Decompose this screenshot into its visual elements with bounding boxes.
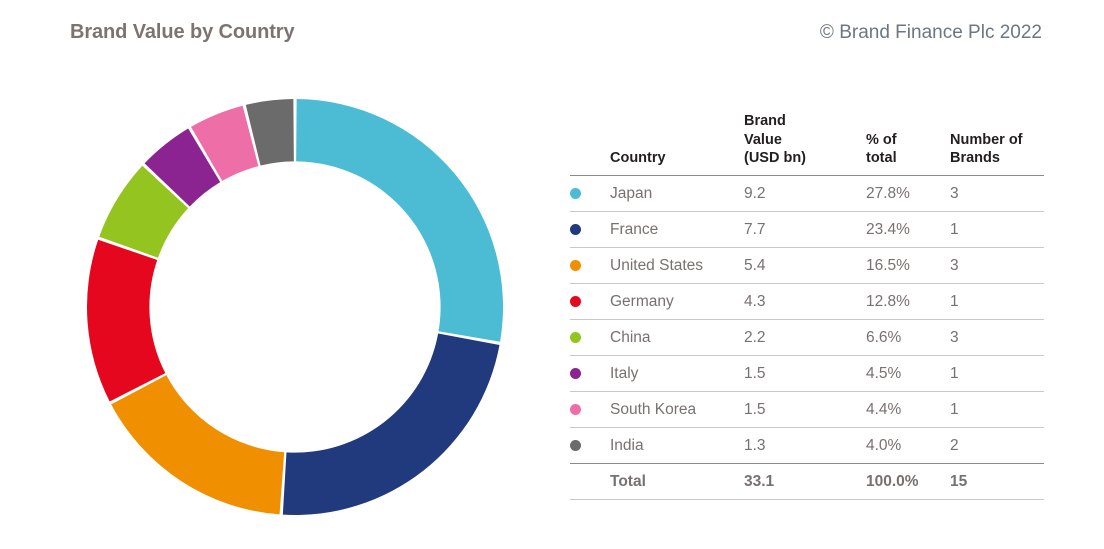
donut-chart <box>87 99 503 515</box>
row-color-swatch-cell <box>570 319 610 355</box>
row-pct-of-total: 4.5% <box>866 355 950 391</box>
row-number-of-brands: 1 <box>950 391 1044 427</box>
row-color-swatch-cell <box>570 391 610 427</box>
row-country: Japan <box>610 175 744 211</box>
row-color-swatch-cell <box>570 355 610 391</box>
row-brand-value: 1.3 <box>744 427 866 463</box>
row-country: India <box>610 427 744 463</box>
header-pct-line1: % of <box>866 132 897 148</box>
header-country: Country <box>610 112 744 175</box>
page-title: Brand Value by Country <box>70 21 295 44</box>
row-brand-value: 4.3 <box>744 283 866 319</box>
table-footer: Total 33.1 100.0% 15 <box>570 463 1044 499</box>
row-number-of-brands: 1 <box>950 283 1044 319</box>
row-country: South Korea <box>610 391 744 427</box>
table-row: United States5.416.5%3 <box>570 247 1044 283</box>
donut-slice-japan <box>296 99 503 342</box>
total-label: Total <box>610 463 744 499</box>
row-country: United States <box>610 247 744 283</box>
legend-dot-icon <box>570 296 581 307</box>
total-brand-value: 33.1 <box>744 463 866 499</box>
row-number-of-brands: 3 <box>950 175 1044 211</box>
row-number-of-brands: 1 <box>950 211 1044 247</box>
header-pct-line2: total <box>866 150 897 166</box>
header-brands-line2: Brands <box>950 150 1000 166</box>
row-color-swatch-cell <box>570 247 610 283</box>
row-number-of-brands: 3 <box>950 319 1044 355</box>
donut-slice-united-states <box>111 375 284 514</box>
table-row: Italy1.54.5%1 <box>570 355 1044 391</box>
table-header: Country Brand Value (USD bn) % of total … <box>570 112 1044 175</box>
table-row: France7.723.4%1 <box>570 211 1044 247</box>
row-pct-of-total: 6.6% <box>866 319 950 355</box>
legend-dot-icon <box>570 188 581 199</box>
copyright-notice: © Brand Finance Plc 2022 <box>820 22 1042 44</box>
table-row: Japan9.227.8%3 <box>570 175 1044 211</box>
total-number-of-brands: 15 <box>950 463 1044 499</box>
row-pct-of-total: 4.4% <box>866 391 950 427</box>
row-brand-value: 1.5 <box>744 391 866 427</box>
row-color-swatch-cell <box>570 427 610 463</box>
table-total-row: Total 33.1 100.0% 15 <box>570 463 1044 499</box>
table-row: South Korea1.54.4%1 <box>570 391 1044 427</box>
row-country: France <box>610 211 744 247</box>
row-number-of-brands: 2 <box>950 427 1044 463</box>
legend-dot-icon <box>570 404 581 415</box>
legend-dot-icon <box>570 224 581 235</box>
donut-slice-france <box>283 334 500 515</box>
row-brand-value: 9.2 <box>744 175 866 211</box>
header-number-of-brands: Number of Brands <box>950 112 1044 175</box>
header-brands-line1: Number of <box>950 132 1023 148</box>
header-brand-value: Brand Value (USD bn) <box>744 112 866 175</box>
donut-slice-germany <box>87 240 165 402</box>
row-country: China <box>610 319 744 355</box>
row-pct-of-total: 4.0% <box>866 427 950 463</box>
row-number-of-brands: 1 <box>950 355 1044 391</box>
row-pct-of-total: 16.5% <box>866 247 950 283</box>
header-brand-value-line2: Value <box>744 132 782 148</box>
table-row: Germany4.312.8%1 <box>570 283 1044 319</box>
table-body: Japan9.227.8%3France7.723.4%1United Stat… <box>570 175 1044 463</box>
row-color-swatch-cell <box>570 283 610 319</box>
row-pct-of-total: 23.4% <box>866 211 950 247</box>
legend-dot-icon <box>570 260 581 271</box>
row-country: Germany <box>610 283 744 319</box>
donut-slices <box>87 99 503 515</box>
row-pct-of-total: 27.8% <box>866 175 950 211</box>
total-swatch <box>570 463 610 499</box>
row-brand-value: 5.4 <box>744 247 866 283</box>
row-brand-value: 2.2 <box>744 319 866 355</box>
legend-dot-icon <box>570 368 581 379</box>
row-brand-value: 1.5 <box>744 355 866 391</box>
header-brand-value-line3: (USD bn) <box>744 150 806 166</box>
table-row: China2.26.6%3 <box>570 319 1044 355</box>
row-country: Italy <box>610 355 744 391</box>
row-number-of-brands: 3 <box>950 247 1044 283</box>
donut-chart-svg <box>87 99 503 515</box>
legend-dot-icon <box>570 440 581 451</box>
legend-dot-icon <box>570 332 581 343</box>
row-color-swatch-cell <box>570 175 610 211</box>
row-color-swatch-cell <box>570 211 610 247</box>
table-row: India1.34.0%2 <box>570 427 1044 463</box>
brand-value-table: Country Brand Value (USD bn) % of total … <box>570 112 1044 500</box>
row-brand-value: 7.7 <box>744 211 866 247</box>
header-swatch <box>570 112 610 175</box>
header-brand-value-line1: Brand <box>744 113 786 129</box>
row-pct-of-total: 12.8% <box>866 283 950 319</box>
header-pct-of-total: % of total <box>866 112 950 175</box>
total-pct-of-total: 100.0% <box>866 463 950 499</box>
table-header-row: Country Brand Value (USD bn) % of total … <box>570 112 1044 175</box>
